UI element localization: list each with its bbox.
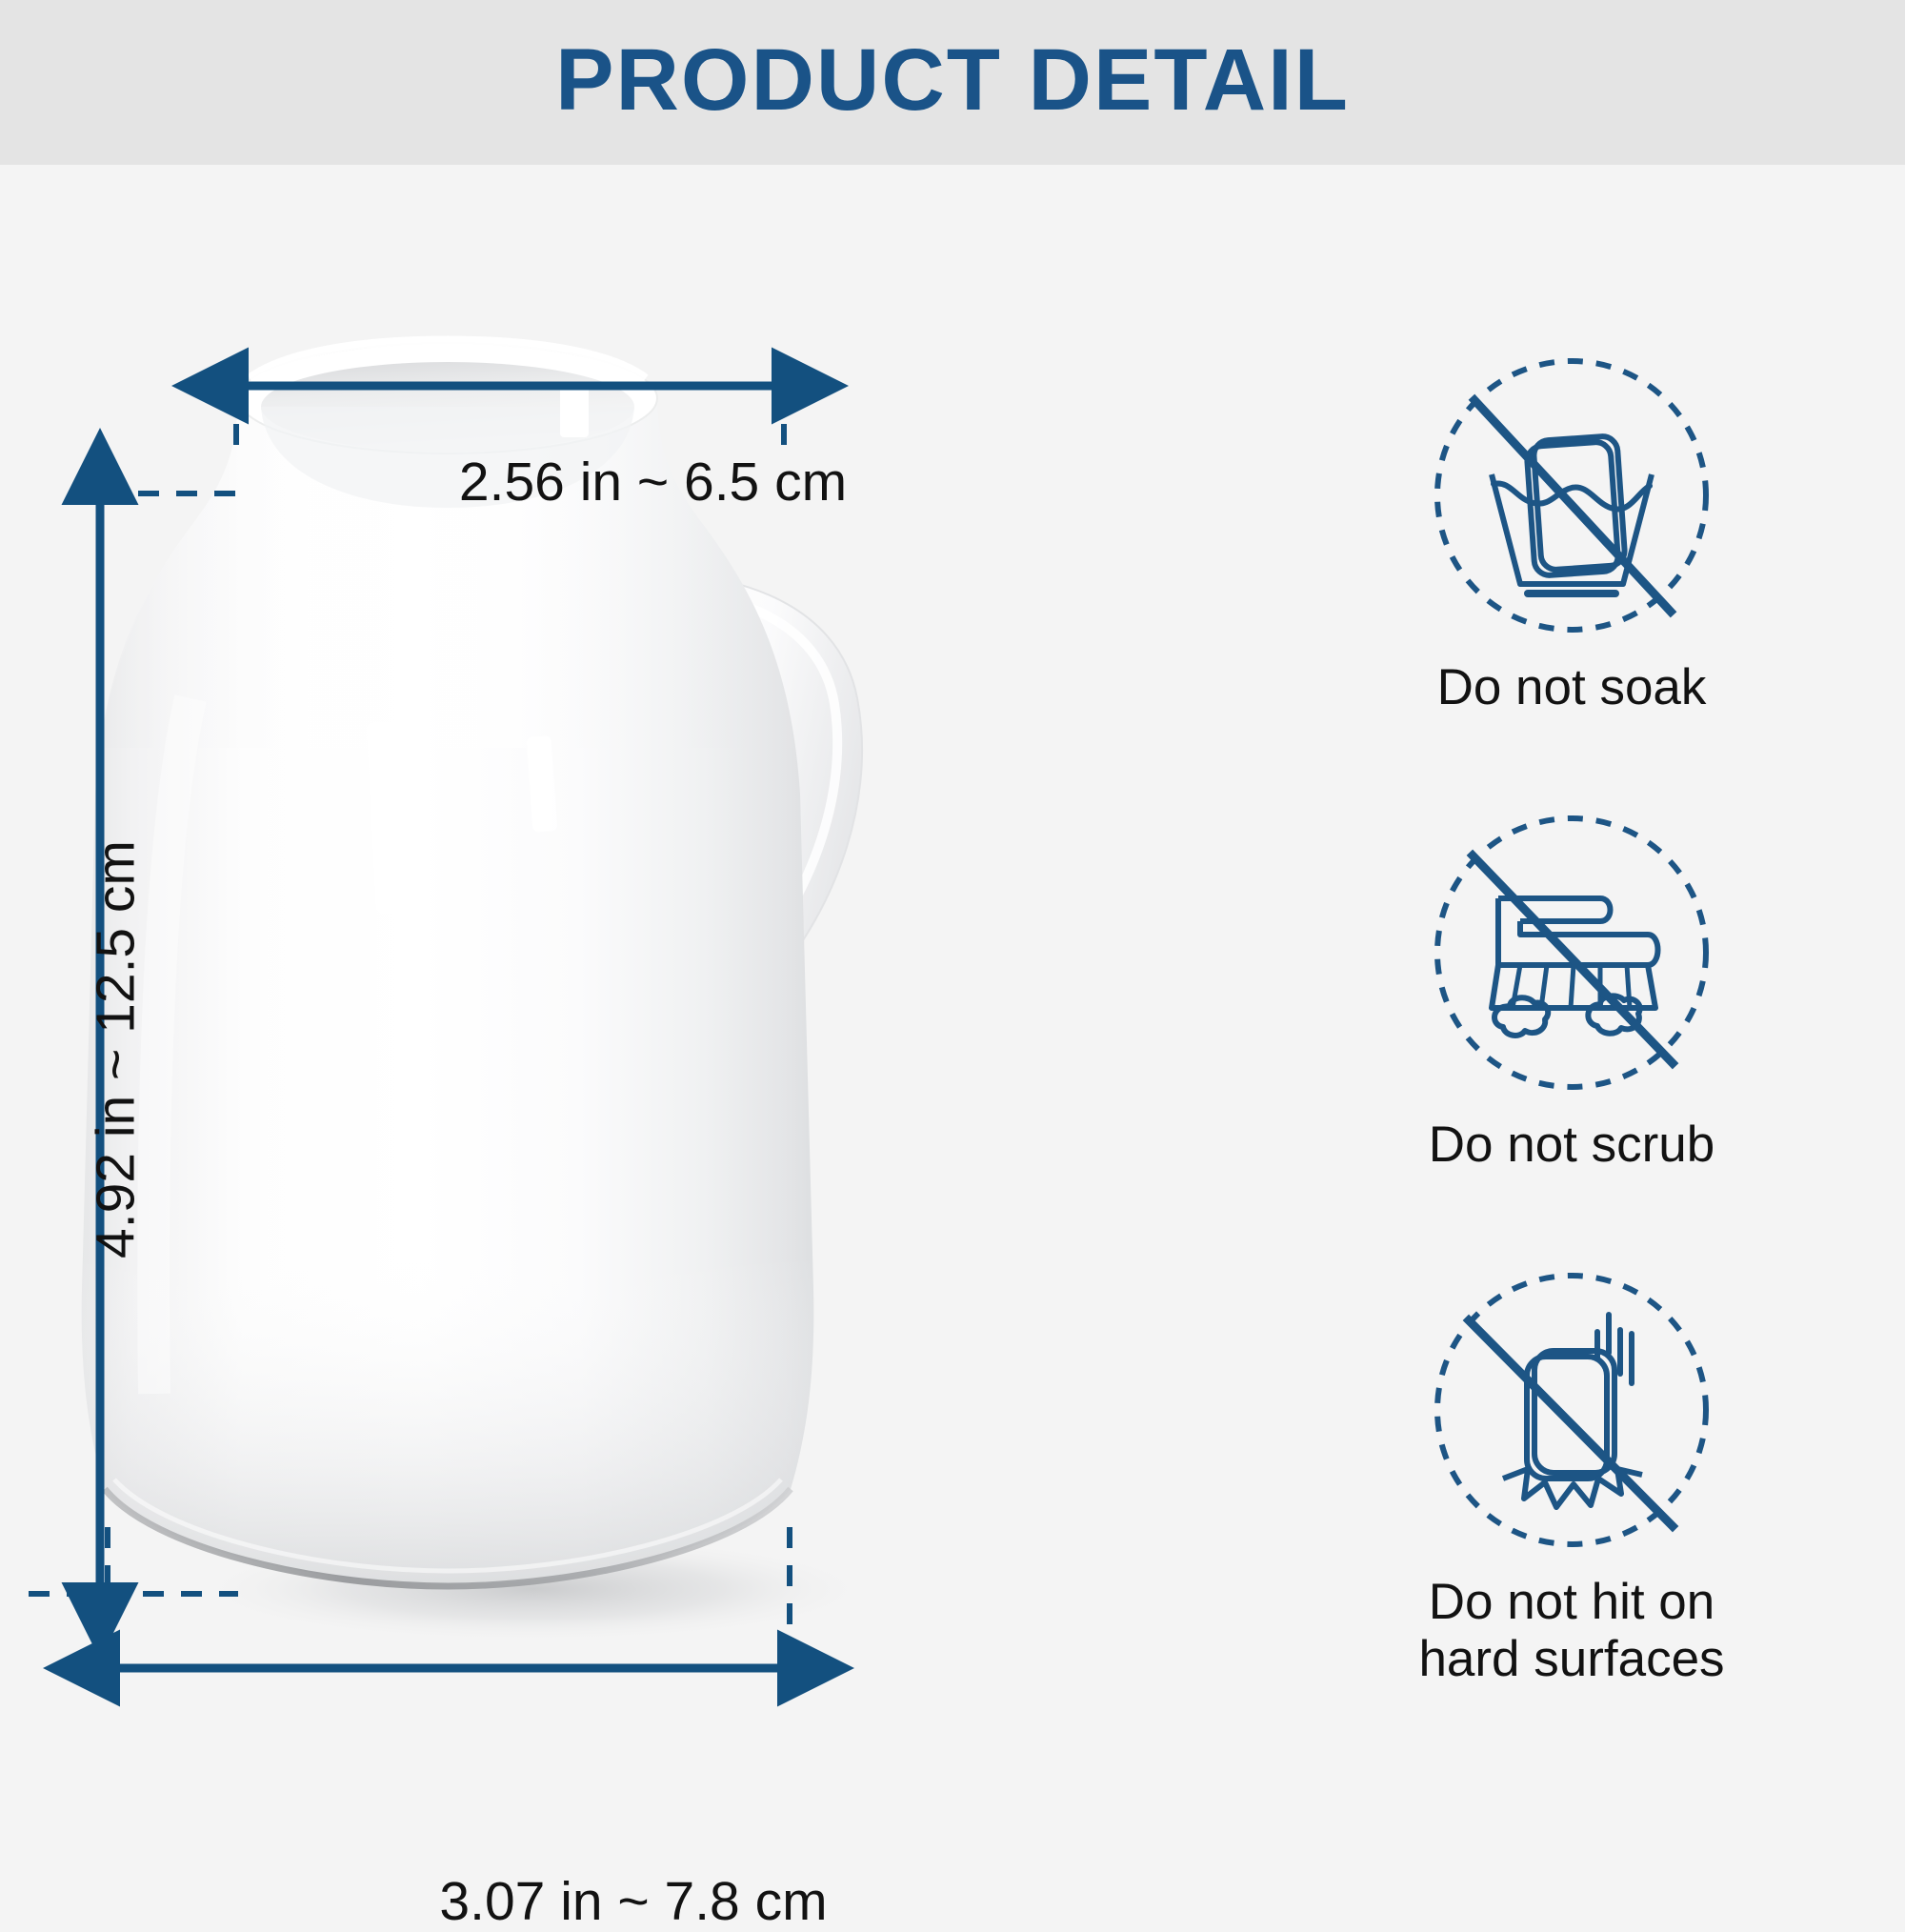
care-item-do-not-scrub: Do not scrub xyxy=(1333,810,1810,1174)
page-title: PRODUCT DETAIL xyxy=(0,0,1905,165)
care-instructions-column: Do not soak xyxy=(1333,286,1810,1772)
product-detail-page: PRODUCT DETAIL xyxy=(0,0,1905,1905)
dimension-label-bottom-width: 3.07 in ~ 7.8 cm xyxy=(319,1875,948,1929)
product-stage: 2.56 in ~ 6.5 cm 4.92 in ~ 12.5 cm 3.07 … xyxy=(0,165,1238,1905)
no-scrub-icon xyxy=(1429,810,1714,1096)
care-label-do-not-hit: Do not hit on hard surfaces xyxy=(1418,1574,1724,1688)
care-label-do-not-soak: Do not soak xyxy=(1437,659,1707,716)
mug-illustration xyxy=(0,165,1238,1905)
no-soak-icon xyxy=(1429,352,1714,638)
care-item-do-not-hit: Do not hit on hard surfaces xyxy=(1333,1267,1810,1688)
care-item-do-not-soak: Do not soak xyxy=(1333,352,1810,716)
no-hit-hard-surface-icon xyxy=(1429,1267,1714,1553)
dimension-label-height: 4.92 in ~ 12.5 cm xyxy=(90,716,144,1383)
care-label-do-not-scrub: Do not scrub xyxy=(1429,1117,1714,1174)
mug-rim-spec-highlight xyxy=(560,382,589,437)
dimension-label-top-width: 2.56 in ~ 6.5 cm xyxy=(379,455,927,510)
